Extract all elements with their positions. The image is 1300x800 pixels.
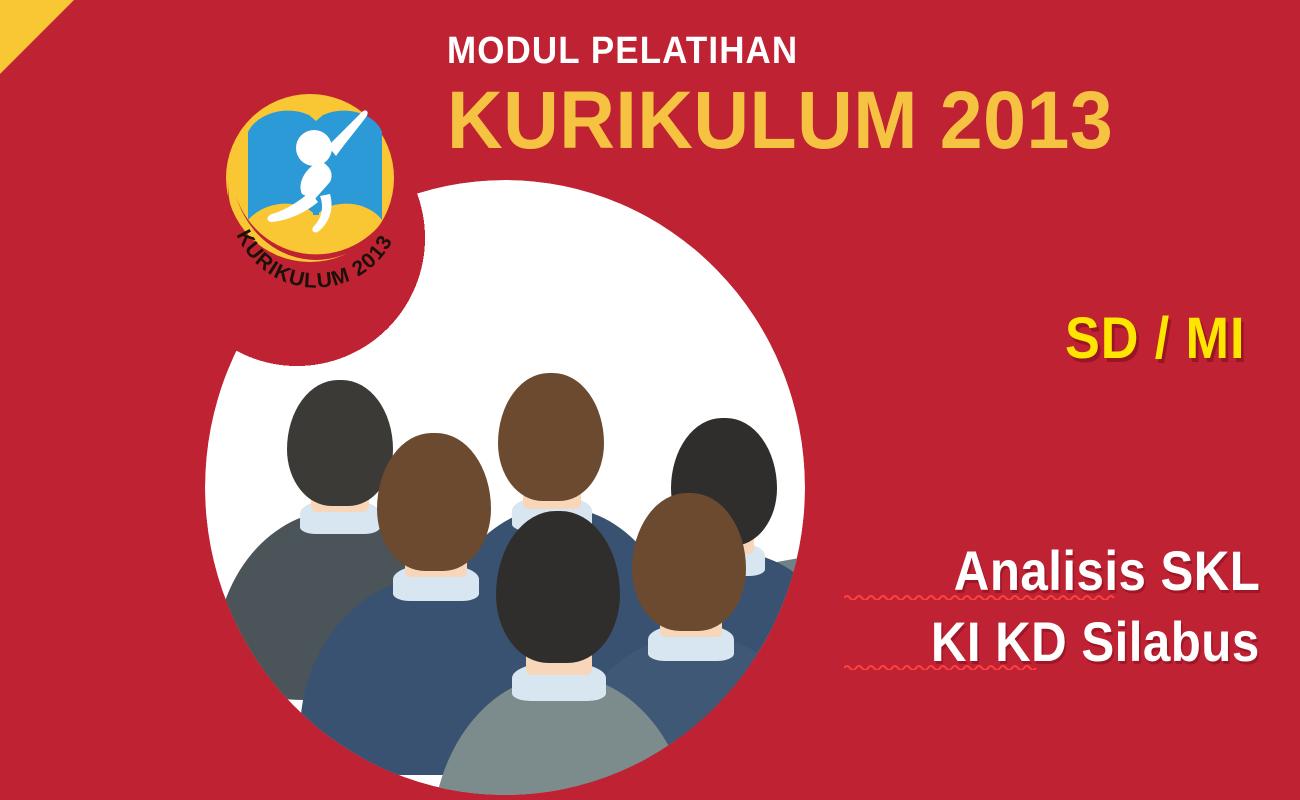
kurikulum-2013-logo: KURIKULUM 2013 <box>210 70 422 310</box>
audience-front-center <box>450 505 670 795</box>
poster-canvas: MODUL PELATIHAN KURIKULUM 2013 <box>0 0 1300 800</box>
corner-triangle-accent <box>0 0 74 74</box>
spellcheck-squiggle-2 <box>844 663 1044 670</box>
audience-head <box>496 511 620 663</box>
level-badge: SD / MI <box>1065 310 1245 368</box>
subtitle-block: Analisis SKL KI KD Silabus <box>840 540 1260 673</box>
page-title: KURIKULUM 2013 <box>447 78 1124 164</box>
eyebrow-text: MODUL PELATIHAN <box>447 32 1109 70</box>
spellcheck-squiggle-1 <box>844 593 1134 600</box>
header-block: MODUL PELATIHAN KURIKULUM 2013 <box>447 32 1167 164</box>
